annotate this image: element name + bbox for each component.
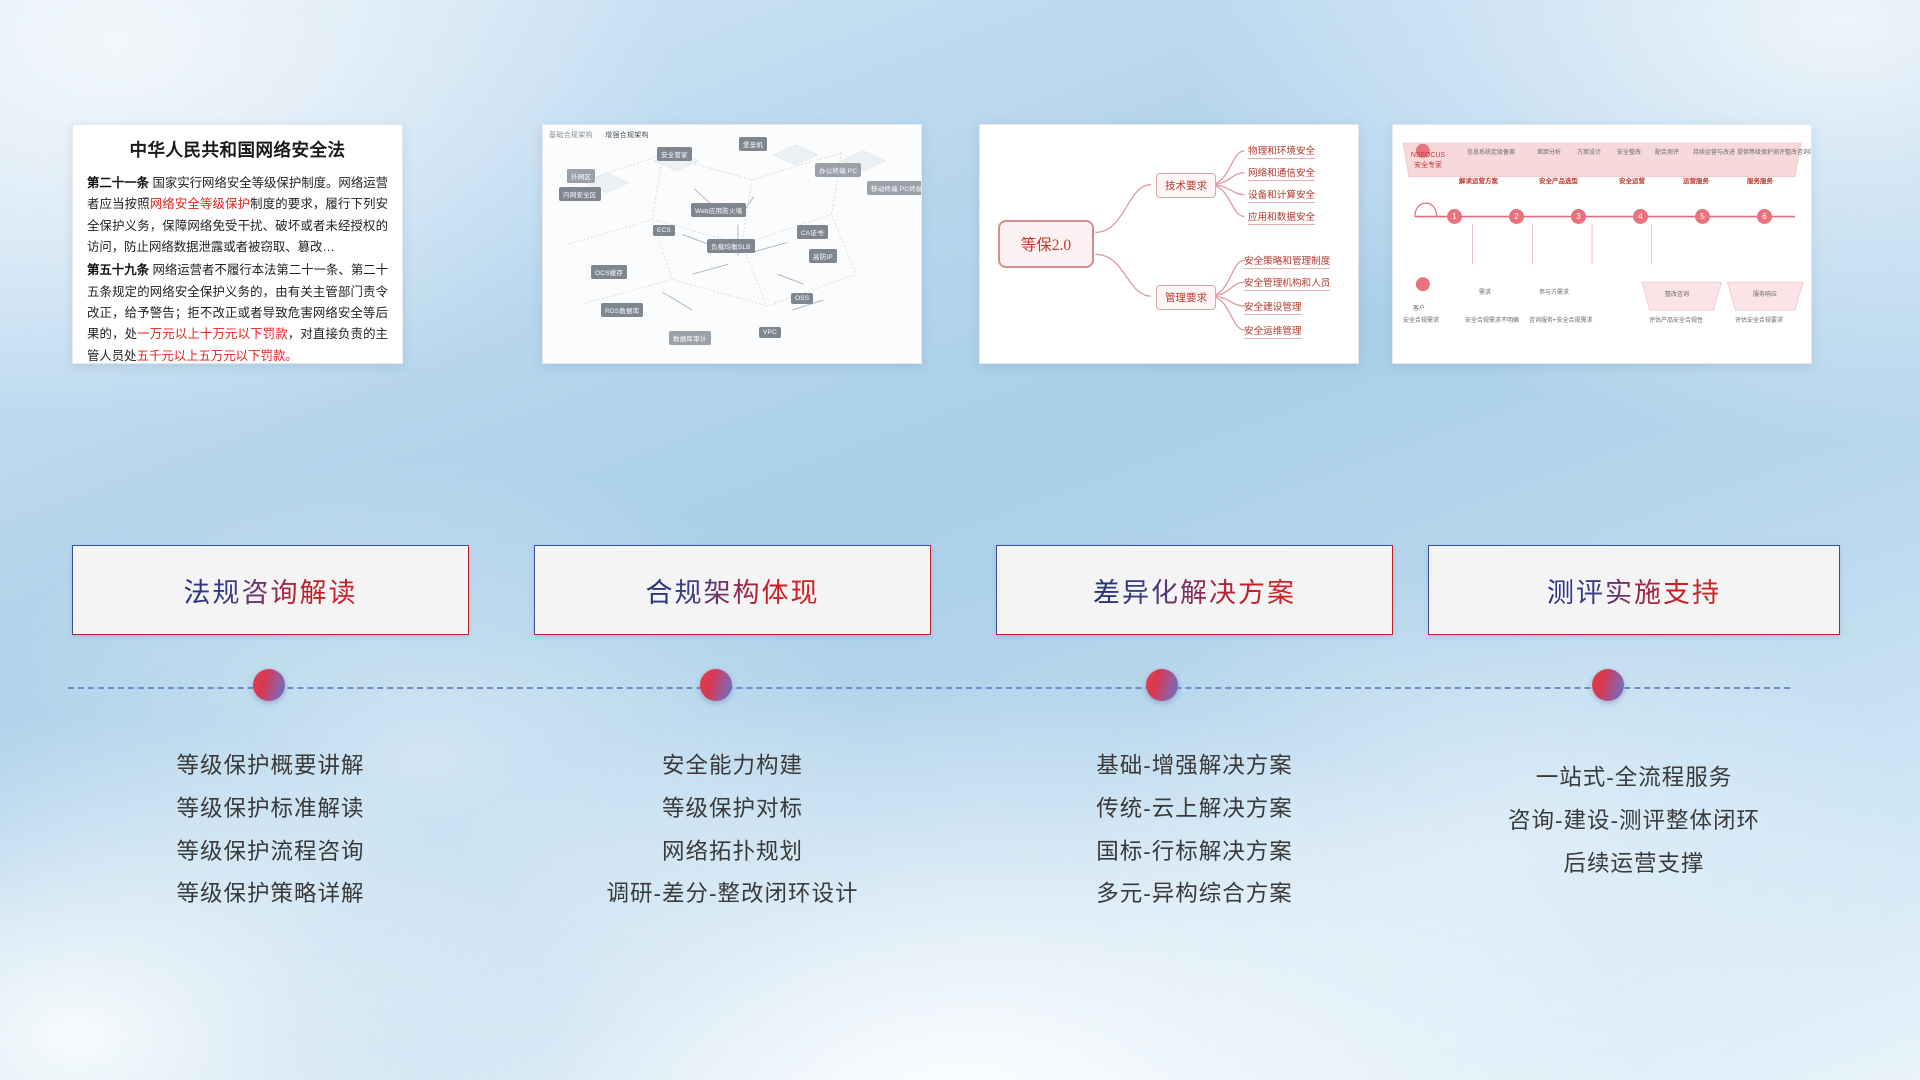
stage-label-text-4: 测评实施支持 (1547, 571, 1721, 610)
mindmap-card[interactable]: 等保2.0 技术要求 管理要求 物理和环境安全 网络和通信安全 设备和计算安全 … (979, 124, 1359, 364)
mindmap-leaf-m3: 安全建设管理 (1244, 299, 1302, 315)
stage-label-2: 安全产品选型 (1539, 175, 1578, 185)
mindmap-leaf-t1: 物理和环境安全 (1248, 143, 1315, 159)
node-ocs: OCS缓存 (591, 265, 627, 279)
mindmap-leaf-t4: 应用和数据安全 (1248, 209, 1315, 225)
stage-label-4: 运营服务 (1683, 175, 1709, 185)
timeline-dashed-line (68, 687, 1790, 689)
list-item: 等级保护概要讲解 (72, 745, 469, 788)
list-item: 网络拓扑规划 (534, 831, 931, 874)
law-paragraph-2: 第五十九条 网络运营者不履行本法第二十一条、第二十五条规定的网络安全保护义务的，… (87, 260, 388, 364)
mindmap-leaf-m4: 安全运维管理 (1244, 323, 1302, 339)
timeline-dot-1[interactable] (253, 669, 285, 701)
list-item: 等级保护对标 (534, 788, 931, 831)
bottom-chip-2: 安全合规需求 (1403, 315, 1439, 324)
list-item: 等级保护策略详解 (72, 873, 469, 916)
card-row: 中华人民共和国网络安全法 第二十一条 国家实行网络安全等级保护制度。网络运营者应… (0, 124, 1920, 364)
stage-label-3: 安全运营 (1619, 175, 1645, 185)
top-chip-5: 配合测评 (1655, 147, 1679, 156)
stage-label-box-4[interactable]: 测评实施支持 (1428, 545, 1840, 635)
timeline-dot-4[interactable] (1592, 669, 1624, 701)
stage-detail-column-1: 等级保护概要讲解 等级保护标准解读 等级保护流程咨询 等级保护策略详解 (72, 745, 469, 916)
stage-label-box-1[interactable]: 法规咨询解读 (72, 545, 469, 635)
stage-detail-column-4: 一站式-全流程服务 咨询-建设-测评整体闭环 后续运营支撑 (1428, 757, 1840, 885)
brand-block: NSFOCUS 安全专家 (1405, 151, 1451, 193)
node-ecs: ECS (653, 225, 675, 236)
list-item: 安全能力构建 (534, 745, 931, 788)
brand-name: NSFOCUS (1405, 151, 1451, 161)
stage-label-text-1: 法规咨询解读 (184, 571, 358, 610)
law-document: 中华人民共和国网络安全法 第二十一条 国家实行网络安全等级保护制度。网络运营者应… (73, 125, 402, 364)
node-slb: 负载均衡SLB (707, 239, 755, 253)
law-title: 中华人民共和国网络安全法 (87, 137, 388, 162)
list-item: 基础-增强解决方案 (996, 745, 1393, 788)
timeline (0, 683, 1920, 693)
bottom-chip-7: 整改咨询 (1665, 289, 1689, 298)
brand-sub: 安全专家 (1405, 161, 1451, 171)
law-paragraph-1: 第二十一条 国家实行网络安全等级保护制度。网络运营者应当按照网络安全等级保护制度… (87, 173, 388, 258)
bottom-chip-1: 客户 (1413, 303, 1425, 312)
bottom-chip-4: 安全合规需求不明确 (1465, 315, 1519, 324)
list-item: 国标-行标解决方案 (996, 831, 1393, 874)
list-item: 调研-差分-整改闭环设计 (534, 873, 931, 916)
service-flow-card[interactable]: NSFOCUS 安全专家 信息系统定级备案 差距分析 方案设计 安全整改 配合测… (1392, 124, 1812, 364)
top-chip-1: 信息系统定级备案 (1467, 147, 1515, 156)
mindmap-branch-management: 管理要求 (1156, 285, 1216, 310)
bottom-chip-10: 评估安全合规要求 (1735, 315, 1783, 324)
stage-label-row: 法规咨询解读 合规架构体现 差异化解决方案 测评实施支持 (0, 545, 1920, 645)
node-db-audit: 数据库审计 (669, 331, 711, 345)
step-6: 6 (1757, 209, 1772, 224)
stage-label-text-3: 差异化解决方案 (1093, 571, 1296, 610)
timeline-dot-3[interactable] (1146, 669, 1178, 701)
list-item: 咨询-建设-测评整体闭环 (1428, 800, 1840, 843)
node-vpc: VPC (759, 327, 781, 338)
mindmap-branch-technical: 技术要求 (1156, 173, 1216, 198)
article-number-59: 第五十九条 (87, 263, 149, 277)
list-item: 传统-云上解决方案 (996, 788, 1393, 831)
stage-label-box-2[interactable]: 合规架构体现 (534, 545, 931, 635)
bottom-chip-3: 需求 (1479, 287, 1491, 296)
node-oss: OSS (791, 293, 813, 304)
law-run-2b-highlight: 一万元以上十万元以下罚款 (137, 327, 288, 341)
article-number-21: 第二十一条 (87, 176, 149, 190)
node-waiwangqu: 外网区 (567, 169, 595, 183)
top-chip-6: 持续运营与改进 (1693, 147, 1735, 156)
step-2: 2 (1509, 209, 1524, 224)
stage-label-5: 服务服务 (1747, 175, 1773, 185)
step-1: 1 (1447, 209, 1462, 224)
mindmap: 等保2.0 技术要求 管理要求 物理和环境安全 网络和通信安全 设备和计算安全 … (980, 125, 1358, 363)
stage-label-text-2: 合规架构体现 (646, 571, 820, 610)
service-flow-graphics (1393, 125, 1811, 364)
node-rds: RDS数据库 (601, 303, 643, 317)
node-baoleiji: 堡垒机 (739, 137, 767, 151)
node-pc-terminal: 移动终端 PC终端 (867, 181, 922, 195)
node-gaofang-ip: 高防IP (809, 249, 837, 263)
node-anquanguanjia: 安全管家 (657, 147, 692, 161)
bottom-chip-5: 参与方需求 (1539, 287, 1569, 296)
stage-label-box-3[interactable]: 差异化解决方案 (996, 545, 1393, 635)
node-ca: CA证书 (797, 225, 828, 239)
stage-detail-column-2: 安全能力构建 等级保护对标 网络拓扑规划 调研-差分-整改闭环设计 (534, 745, 931, 916)
law-run-2d-highlight: 五千元以上五万元以下罚款。 (137, 349, 298, 363)
mindmap-root: 等保2.0 (998, 220, 1094, 268)
mindmap-leaf-m1: 安全策略和管理制度 (1244, 253, 1330, 269)
node-neiwang: 内网安全区 (559, 187, 601, 201)
top-chip-2: 差距分析 (1537, 147, 1561, 156)
bottom-chip-8: 评估产品安全合规性 (1649, 315, 1703, 324)
list-item: 后续运营支撑 (1428, 843, 1840, 886)
bottom-chip-6: 咨询服务+安全合规需求 (1529, 315, 1593, 324)
law-run-1b-highlight: 网络安全等级保护 (150, 197, 250, 211)
mindmap-leaf-t2: 网络和通信安全 (1248, 165, 1315, 181)
list-item: 等级保护流程咨询 (72, 831, 469, 874)
service-flow: NSFOCUS 安全专家 信息系统定级备案 差距分析 方案设计 安全整改 配合测… (1393, 125, 1811, 363)
mindmap-leaf-m2: 安全管理机构和人员 (1244, 275, 1330, 291)
step-4: 4 (1633, 209, 1648, 224)
top-chip-4: 安全整改 (1617, 147, 1641, 156)
architecture-diagram: 基础合规架构 增强合规架构 (543, 125, 921, 363)
law-card[interactable]: 中华人民共和国网络安全法 第二十一条 国家实行网络安全等级保护制度。网络运营者应… (72, 124, 403, 364)
step-3: 3 (1571, 209, 1586, 224)
list-item: 一站式-全流程服务 (1428, 757, 1840, 800)
step-5: 5 (1695, 209, 1710, 224)
node-office-terminal: 办公终端 PC (815, 163, 861, 177)
top-chip-3: 方案设计 (1577, 147, 1601, 156)
architecture-card[interactable]: 基础合规架构 增强合规架构 (542, 124, 922, 364)
top-chip-7: 提供等级保护测评整改咨询服务 (1737, 147, 1812, 156)
stage-label-1: 解读运营方案 (1459, 175, 1498, 185)
list-item: 等级保护标准解读 (72, 788, 469, 831)
stage-detail-column-3: 基础-增强解决方案 传统-云上解决方案 国标-行标解决方案 多元-异构综合方案 (996, 745, 1393, 916)
node-waf: Web应用防火墙 (691, 203, 746, 217)
stage-detail-columns: 等级保护概要讲解 等级保护标准解读 等级保护流程咨询 等级保护策略详解 安全能力… (0, 745, 1920, 975)
list-item: 多元-异构综合方案 (996, 873, 1393, 916)
timeline-dot-2[interactable] (700, 669, 732, 701)
bottom-chip-9: 服务响应 (1753, 289, 1777, 298)
mindmap-leaf-t3: 设备和计算安全 (1248, 187, 1315, 203)
